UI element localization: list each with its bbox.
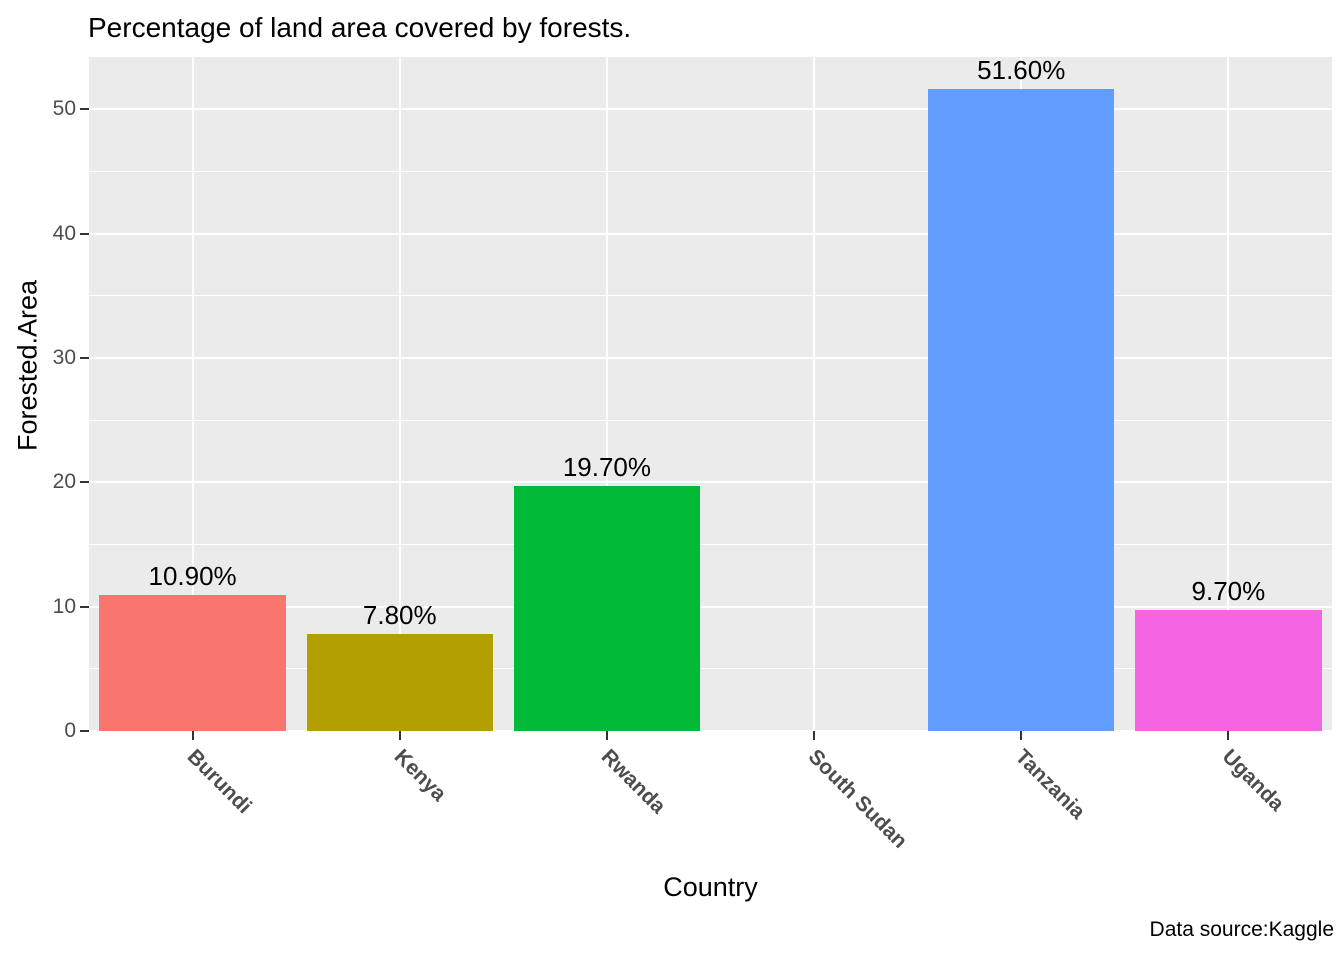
plot-panel <box>89 57 1332 731</box>
y-tick-mark <box>80 108 89 110</box>
bar-value-label: 7.80% <box>363 600 437 631</box>
grid-line-major <box>89 108 1332 110</box>
grid-line-minor <box>89 295 1332 296</box>
x-axis-title: Country <box>89 872 1332 903</box>
y-tick-label: 40 <box>53 222 76 246</box>
x-tick-label-tanzania: Tanzania <box>1010 745 1089 824</box>
bar-kenya[interactable] <box>307 634 493 731</box>
y-tick-label: 0 <box>64 719 76 743</box>
y-tick-mark <box>80 606 89 608</box>
grid-line-major <box>89 357 1332 359</box>
bar-burundi[interactable] <box>99 595 285 731</box>
x-tick-mark <box>606 731 608 740</box>
x-tick-label-rwanda: Rwanda <box>596 745 670 819</box>
grid-line-major <box>89 233 1332 235</box>
bar-tanzania[interactable] <box>928 89 1114 731</box>
bar-value-label: 9.70% <box>1192 576 1266 607</box>
x-tick-mark <box>399 731 401 740</box>
y-tick-mark <box>80 481 89 483</box>
chart-caption: Data source:Kaggle <box>1150 918 1334 942</box>
grid-line-minor <box>89 420 1332 421</box>
grid-line-vertical <box>813 57 815 731</box>
grid-line-minor <box>89 171 1332 172</box>
x-tick-label-south-sudan: South Sudan <box>803 745 912 854</box>
x-tick-label-burundi: Burundi <box>182 745 256 819</box>
x-tick-mark <box>1227 731 1229 740</box>
bar-value-label: 19.70% <box>563 452 651 483</box>
y-tick-label: 50 <box>53 97 76 121</box>
bar-value-label: 10.90% <box>148 561 236 592</box>
bar-value-label: 51.60% <box>977 55 1065 86</box>
chart-figure: Percentage of land area covered by fores… <box>0 0 1344 960</box>
y-tick-mark <box>80 730 89 732</box>
y-axis-title: Forested.Area <box>13 206 44 526</box>
x-tick-mark <box>1020 731 1022 740</box>
y-tick-label: 20 <box>53 470 76 494</box>
y-tick-label: 30 <box>53 346 76 370</box>
chart-title: Percentage of land area covered by fores… <box>88 14 631 42</box>
y-tick-mark <box>80 357 89 359</box>
grid-line-major <box>89 481 1332 483</box>
x-tick-mark <box>192 731 194 740</box>
x-tick-label-uganda: Uganda <box>1217 745 1288 816</box>
x-tick-label-kenya: Kenya <box>389 745 451 807</box>
y-tick-mark <box>80 233 89 235</box>
y-tick-label: 10 <box>53 595 76 619</box>
grid-line-minor <box>89 544 1332 545</box>
x-tick-mark <box>813 731 815 740</box>
bar-rwanda[interactable] <box>514 486 700 731</box>
bar-uganda[interactable] <box>1135 610 1321 731</box>
